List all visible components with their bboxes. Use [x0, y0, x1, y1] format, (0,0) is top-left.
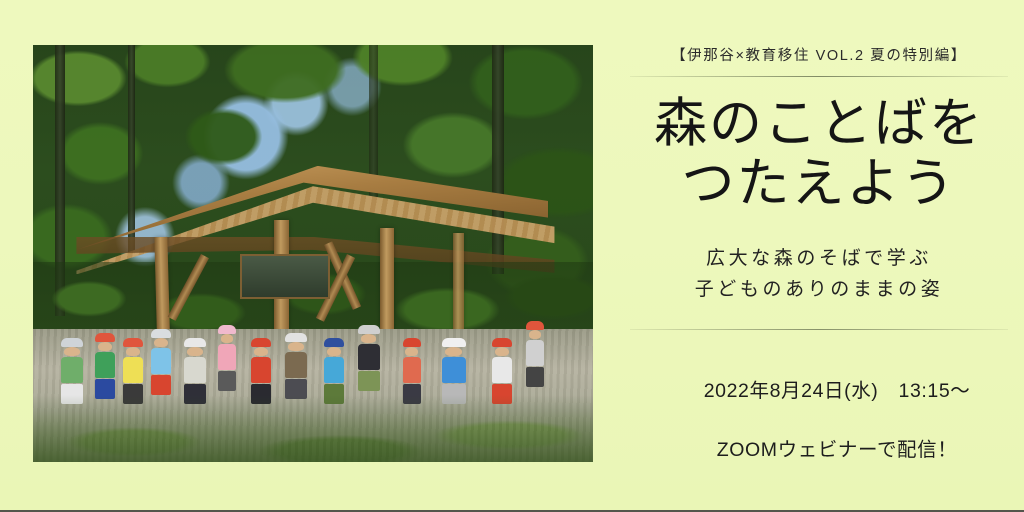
photo-child [251, 338, 271, 404]
photo-child [151, 329, 171, 395]
photo-foreground-shadow [33, 395, 593, 462]
text-column: 【伊那谷×教育移住 VOL.2 夏の特別編】 森のことばを つたえよう 広大な森… [614, 0, 1024, 512]
photo-child [403, 338, 421, 404]
photo-child [184, 338, 206, 404]
photo-child [358, 325, 380, 391]
poster-root: 【伊那谷×教育移住 VOL.2 夏の特別編】 森のことばを つたえよう 広大な森… [0, 0, 1024, 512]
title-line-2: つたえよう [682, 154, 957, 213]
photo-tree-trunk [492, 45, 504, 274]
photo-child [492, 338, 512, 404]
series-kicker: 【伊那谷×教育移住 VOL.2 夏の特別編】 [671, 44, 967, 65]
divider-bottom [630, 329, 1008, 330]
photo-child [526, 321, 544, 387]
subtitle-line-2: 子どものありのままの姿 [695, 279, 944, 300]
photo-child [285, 333, 307, 399]
event-photo [33, 45, 593, 462]
photo-adult [442, 338, 466, 404]
page-title: 森のことばを つたえよう [654, 94, 984, 214]
photo-chalkboard [240, 254, 330, 300]
photo-child [218, 325, 236, 391]
event-datetime: 2022年8月24日(水) 13:15〜 ZOOMウェビナーで配信！ [668, 347, 971, 495]
photo-child [61, 338, 83, 404]
title-line-1: 森のことばを [654, 94, 984, 153]
photo-child [324, 338, 344, 404]
event-date-line: 2022年8月24日(水) 13:15〜 [704, 380, 971, 402]
subtitle: 広大な森のそばで学ぶ 子どものありのままの姿 [695, 244, 944, 306]
photo-child [123, 338, 143, 404]
photo-child [95, 333, 115, 399]
photo-tree-trunk [128, 45, 135, 254]
subtitle-line-1: 広大な森のそばで学ぶ [706, 248, 932, 269]
event-delivery-line: ZOOMウェビナーで配信！ [717, 439, 958, 461]
divider-top [630, 76, 1008, 77]
